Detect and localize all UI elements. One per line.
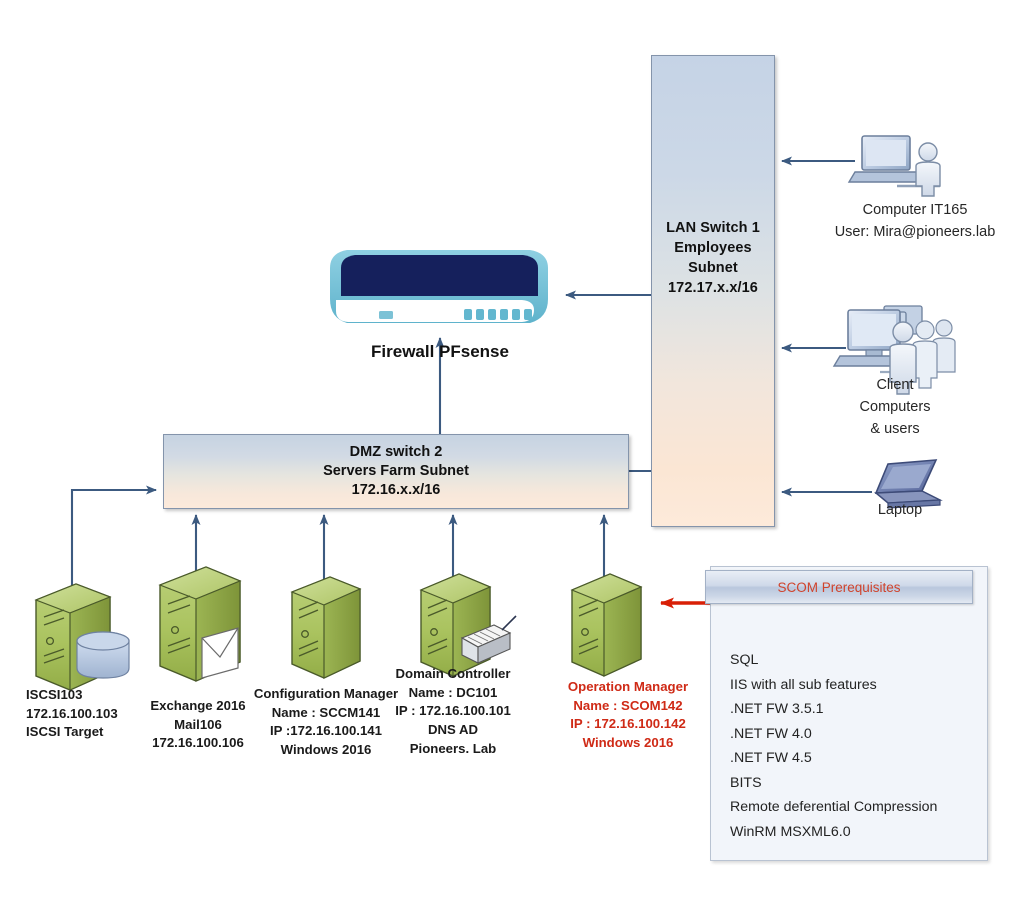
exchange-line3: 172.16.100.106 <box>136 734 260 753</box>
client-caption-it165: Computer IT165 User: Mira@pioneers.lab <box>810 200 1020 244</box>
firewall-appliance-icon <box>330 250 548 323</box>
server-caption-scom: Operation Manager Name : SCOM142 IP : 17… <box>540 678 716 753</box>
dc-line1: Domain Controller <box>388 665 518 684</box>
lan-switch-line3: Subnet <box>666 258 760 278</box>
prereq-item: .NET FW 4.0 <box>730 722 937 747</box>
dmz-switch-label: DMZ switch 2 Servers Farm Subnet 172.16.… <box>323 443 469 500</box>
server-icon-sccm <box>292 577 360 678</box>
scom-prerequisites-header: SCOM Prerequisites <box>705 570 973 604</box>
dmz-switch-line2: Servers Farm Subnet <box>323 462 469 481</box>
sccm-line3: IP :172.16.100.141 <box>250 722 402 741</box>
dc-line4: DNS AD <box>388 721 518 740</box>
dmz-switch-2-box[interactable]: DMZ switch 2 Servers Farm Subnet 172.16.… <box>163 434 629 509</box>
sccm-line4: Windows 2016 <box>250 741 402 760</box>
scom-prerequisites-title: SCOM Prerequisites <box>777 580 900 595</box>
lan-switch-1-box[interactable]: LAN Switch 1 Employees Subnet 172.17.x.x… <box>651 55 775 527</box>
scom-prerequisites-list: SQL IIS with all sub features .NET FW 3.… <box>730 648 937 845</box>
dmz-switch-line3: 172.16.x.x/16 <box>323 481 469 500</box>
server-icon-scom <box>572 574 641 676</box>
network-diagram-canvas: LAN Switch 1 Employees Subnet 172.17.x.x… <box>0 0 1024 900</box>
dc-line3: IP : 172.16.100.101 <box>388 702 518 721</box>
dmz-switch-line1: DMZ switch 2 <box>323 443 469 462</box>
firewall-label: Firewall PFsense <box>330 342 550 362</box>
iscsi-line3: ISCSI Target <box>26 723 118 742</box>
it165-line1: Computer IT165 <box>810 200 1020 222</box>
scom-line1: Operation Manager <box>540 678 716 697</box>
exchange-line1: Exchange 2016 <box>136 697 260 716</box>
scom-line3: IP : 172.16.100.142 <box>540 715 716 734</box>
lan-switch-label: LAN Switch 1 Employees Subnet 172.17.x.x… <box>666 218 760 298</box>
prereq-item: WinRM MSXML6.0 <box>730 820 937 845</box>
prereq-item: Remote deferential Compression <box>730 795 937 820</box>
server-caption-sccm: Configuration Manager Name : SCCM141 IP … <box>250 685 402 760</box>
server-with-tray-icon <box>421 574 516 676</box>
client-caption-clients: Client Computers & users <box>820 375 970 440</box>
scom-line2: Name : SCOM142 <box>540 697 716 716</box>
server-caption-iscsi: ISCSI103 172.16.100.103 ISCSI Target <box>26 686 118 742</box>
sccm-line1: Configuration Manager <box>250 685 402 704</box>
prereq-item: .NET FW 3.5.1 <box>730 697 937 722</box>
lan-switch-line4: 172.17.x.x/16 <box>666 278 760 298</box>
server-caption-dc: Domain Controller Name : DC101 IP : 172.… <box>388 665 518 759</box>
lan-switch-line1: LAN Switch 1 <box>666 218 760 238</box>
laptop-with-user-icon <box>849 136 940 196</box>
dc-line2: Name : DC101 <box>388 684 518 703</box>
clients-line2: Computers <box>820 397 970 419</box>
exchange-line2: Mail106 <box>136 716 260 735</box>
laptop-line1: Laptop <box>840 500 960 522</box>
server-with-disk-icon <box>36 584 129 690</box>
clients-line1: Client <box>820 375 970 397</box>
prereq-item: SQL <box>730 648 937 673</box>
lan-switch-line2: Employees <box>666 238 760 258</box>
prereq-item: IIS with all sub features <box>730 673 937 698</box>
it165-line2: User: Mira@pioneers.lab <box>810 222 1020 244</box>
server-with-mail-icon <box>160 567 240 681</box>
scom-line4: Windows 2016 <box>540 734 716 753</box>
iscsi-line2: 172.16.100.103 <box>26 705 118 724</box>
prereq-item: BITS <box>730 771 937 796</box>
client-caption-laptop: Laptop <box>840 500 960 522</box>
clients-line3: & users <box>820 419 970 441</box>
server-caption-exchange: Exchange 2016 Mail106 172.16.100.106 <box>136 697 260 753</box>
dc-line5: Pioneers. Lab <box>388 740 518 759</box>
prereq-item: .NET FW 4.5 <box>730 746 937 771</box>
sccm-line2: Name : SCCM141 <box>250 704 402 723</box>
iscsi-line1: ISCSI103 <box>26 686 118 705</box>
